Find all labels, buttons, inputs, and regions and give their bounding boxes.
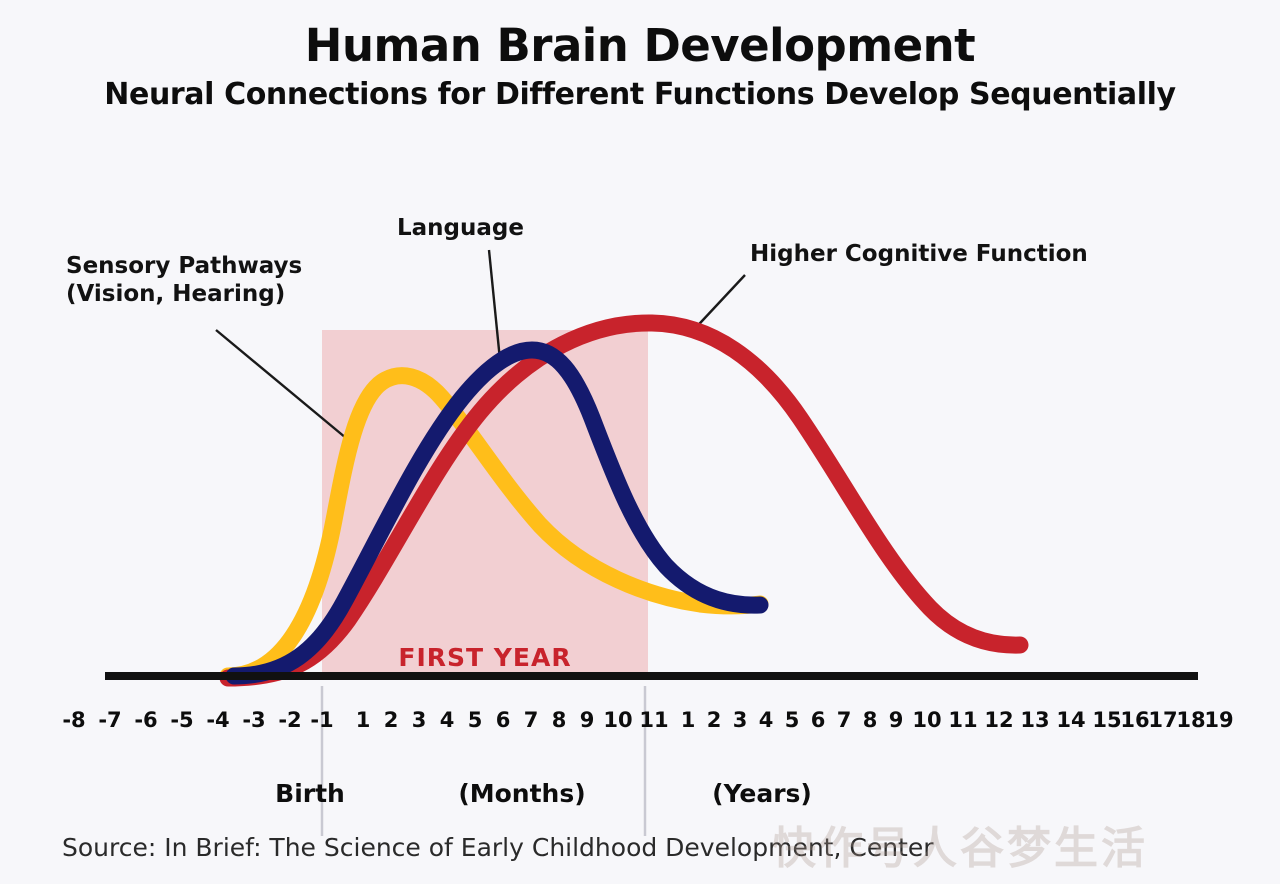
- x-axis-tick: -1: [310, 708, 333, 732]
- annotation-language: Language: [397, 214, 524, 242]
- x-axis-tick: 6: [811, 708, 826, 732]
- x-axis-tick: -7: [98, 708, 121, 732]
- x-axis-tick: 17: [1148, 708, 1177, 732]
- annotation-sensory-pathways: Sensory Pathways (Vision, Hearing): [66, 252, 302, 308]
- x-axis-tick: -5: [170, 708, 193, 732]
- plot-area: [0, 0, 1280, 884]
- x-axis-tick: 14: [1056, 708, 1085, 732]
- x-axis-tick: 12: [984, 708, 1013, 732]
- x-axis-tick: 10: [603, 708, 632, 732]
- x-axis-tick: 11: [639, 708, 668, 732]
- x-axis-tick: 13: [1020, 708, 1049, 732]
- source-note: Source: In Brief: The Science of Early C…: [62, 833, 934, 862]
- x-axis-tick: 8: [863, 708, 878, 732]
- x-axis-tick: 4: [440, 708, 455, 732]
- x-axis-tick: 7: [524, 708, 539, 732]
- x-axis-tick: 1: [681, 708, 696, 732]
- period-label: (Months): [458, 779, 585, 808]
- x-axis-tick: 19: [1204, 708, 1233, 732]
- brain-development-chart: Human Brain Development Neural Connectio…: [0, 0, 1280, 884]
- x-axis-tick: 7: [837, 708, 852, 732]
- annotation-higher-cognitive-function: Higher Cognitive Function: [750, 240, 1088, 268]
- x-axis-tick: -4: [206, 708, 229, 732]
- x-axis-tick: 3: [733, 708, 748, 732]
- x-axis-tick: 10: [912, 708, 941, 732]
- x-axis-tick: 11: [948, 708, 977, 732]
- x-axis-tick: -3: [242, 708, 265, 732]
- x-axis-tick: 3: [412, 708, 427, 732]
- x-axis-tick: 16: [1120, 708, 1149, 732]
- x-axis-tick: 1: [356, 708, 371, 732]
- x-axis-tick: 5: [785, 708, 800, 732]
- x-axis-tick: -2: [278, 708, 301, 732]
- x-axis-tick: 2: [384, 708, 399, 732]
- x-axis-tick: 4: [759, 708, 774, 732]
- x-axis-tick: -8: [62, 708, 85, 732]
- x-axis-tick: 8: [552, 708, 567, 732]
- x-axis-tick: 18: [1176, 708, 1205, 732]
- x-axis-tick: 9: [889, 708, 904, 732]
- x-axis-tick: 2: [707, 708, 722, 732]
- period-label: Birth: [275, 779, 345, 808]
- x-axis-tick: 15: [1092, 708, 1121, 732]
- period-label: (Years): [712, 779, 812, 808]
- x-axis-tick-labels: -8-7-6-5-4-3-2-1123456789101112345678910…: [0, 708, 1280, 740]
- first-year-band-label: FIRST YEAR: [398, 643, 571, 672]
- x-axis-tick: -6: [134, 708, 157, 732]
- x-axis-tick: 5: [468, 708, 483, 732]
- x-axis-tick: 9: [580, 708, 595, 732]
- x-axis-tick: 6: [496, 708, 511, 732]
